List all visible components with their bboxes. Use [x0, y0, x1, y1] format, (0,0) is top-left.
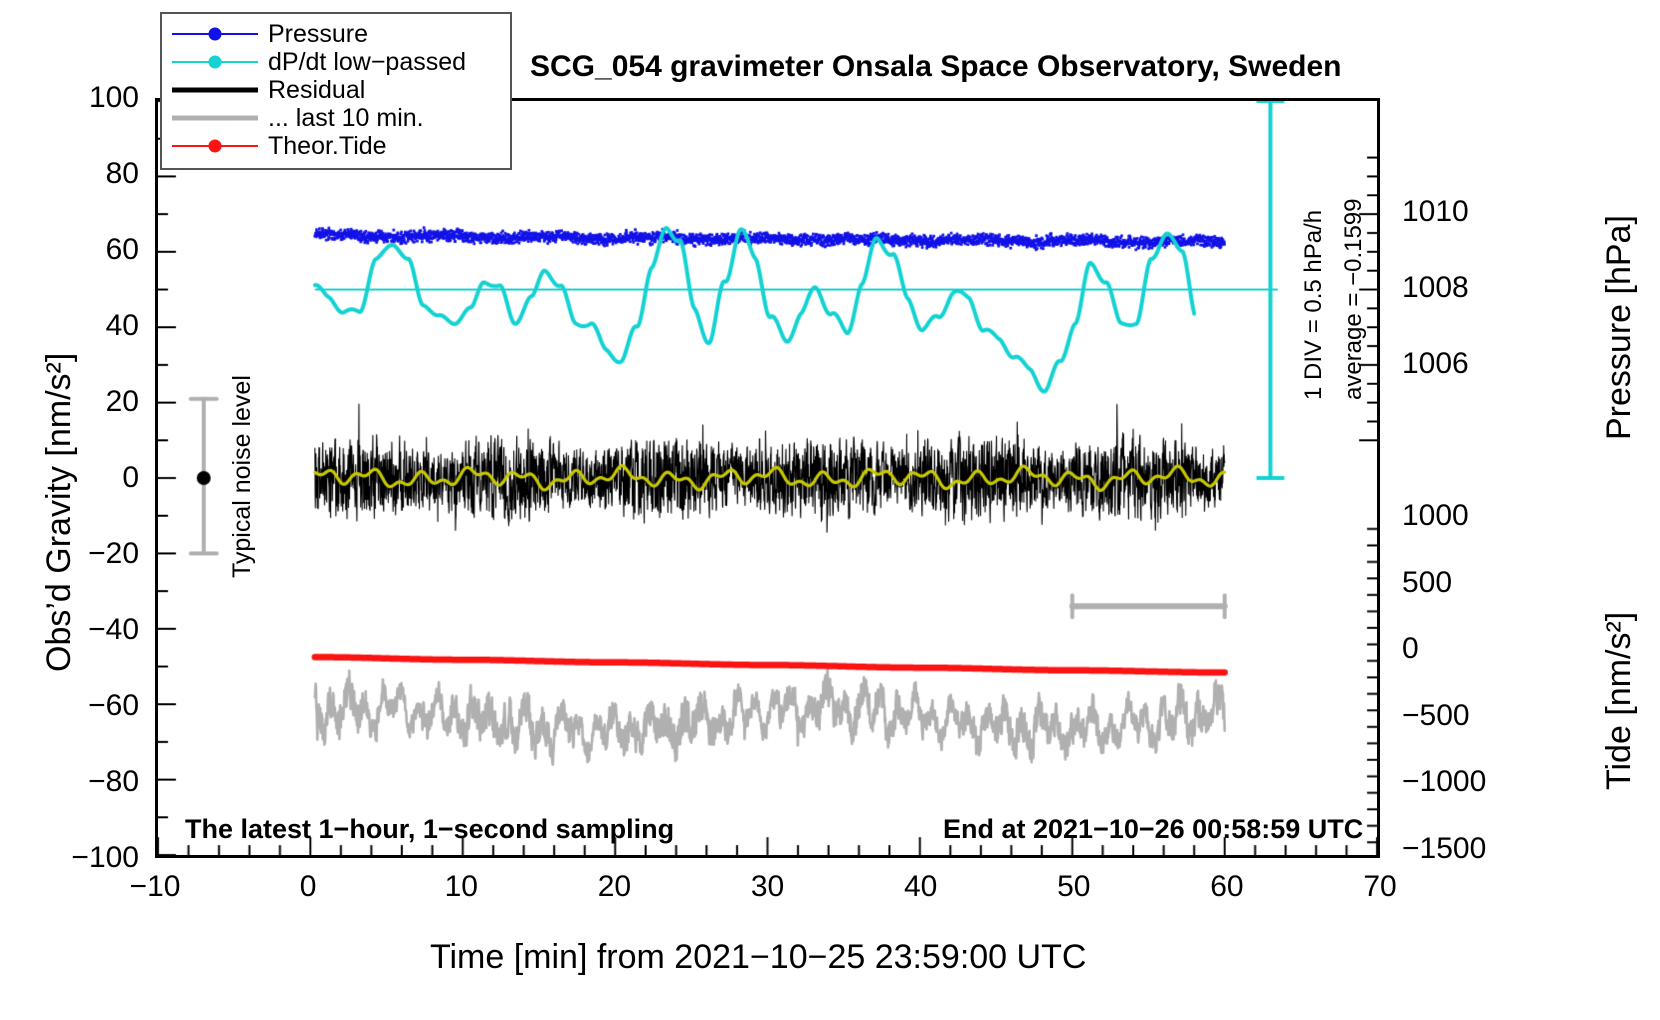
footer-right-note: End at 2021−10−26 00:58:59 UTC [943, 814, 1363, 845]
legend-label-residual: Residual [268, 76, 365, 105]
legend-label-theortide: Theor.Tide [268, 132, 387, 161]
xtick-0: −10 [130, 870, 181, 904]
ytick-left-7: −40 [19, 613, 139, 647]
dpdt-average-note: average = −0.1599 [1340, 198, 1368, 400]
xtick-3: 20 [598, 870, 631, 904]
legend-item-pressure[interactable]: Pressure [172, 20, 500, 48]
xtick-4: 30 [751, 870, 784, 904]
ytick-left-5: 0 [19, 461, 139, 495]
legend-swatch-last10 [172, 107, 258, 129]
ytick-tide-0: 1000 [1402, 499, 1469, 533]
ytick-left-6: −20 [19, 537, 139, 571]
legend-item-residual[interactable]: Residual [172, 76, 500, 104]
ytick-left-2: 60 [19, 233, 139, 267]
y-axis-right-pressure-title: Pressure [hPa] [1600, 215, 1639, 440]
typical-noise-level-label: Typical noise level [228, 375, 257, 578]
ytick-tide-1: 500 [1402, 566, 1452, 600]
y-axis-right-tide-title: Tide [nm/s²] [1600, 612, 1639, 790]
legend-swatch-pressure [172, 23, 258, 45]
xtick-5: 40 [904, 870, 937, 904]
legend-label-pressure: Pressure [268, 20, 368, 49]
ytick-left-8: −60 [19, 689, 139, 723]
ytick-tide-5: −1500 [1402, 832, 1486, 866]
xtick-6: 50 [1057, 870, 1090, 904]
ytick-left-3: 40 [19, 309, 139, 343]
legend-item-theortide[interactable]: Theor.Tide [172, 132, 500, 160]
ytick-left-1: 80 [19, 157, 139, 191]
ytick-tide-3: −500 [1402, 699, 1470, 733]
footer-left-note: The latest 1−hour, 1−second sampling [185, 814, 674, 845]
ytick-tide-2: 0 [1402, 632, 1419, 666]
page-title: SCG_054 gravimeter Onsala Space Observat… [530, 50, 1342, 84]
plot-canvas [158, 101, 1377, 855]
xtick-1: 0 [300, 870, 317, 904]
ytick-pressure-2: 1006 [1402, 347, 1469, 381]
legend-swatch-residual [172, 79, 258, 101]
ytick-left-4: 20 [19, 385, 139, 419]
dpdt-div-note: 1 DIV = 0.5 hPa/h [1300, 210, 1328, 400]
legend-swatch-dpdt [172, 51, 258, 73]
plot-area [155, 98, 1380, 858]
ytick-left-10: −100 [19, 841, 139, 875]
ytick-left-9: −80 [19, 765, 139, 799]
ytick-left-0: 100 [19, 81, 139, 115]
x-axis-title: Time [min] from 2021−10−25 23:59:00 UTC [430, 938, 1086, 977]
legend-label-dpdt: dP/dt low−passed [268, 48, 466, 77]
legend-label-last10: ... last 10 min. [268, 104, 424, 133]
xtick-2: 10 [445, 870, 478, 904]
ytick-pressure-0: 1010 [1402, 195, 1469, 229]
ytick-tide-4: −1000 [1402, 765, 1486, 799]
ytick-pressure-1: 1008 [1402, 271, 1469, 305]
legend-item-dpdt[interactable]: dP/dt low−passed [172, 48, 500, 76]
legend: Pressure dP/dt low−passed Residual ... l… [160, 12, 512, 170]
xtick-7: 60 [1210, 870, 1243, 904]
xtick-8: 70 [1363, 870, 1396, 904]
legend-item-last10[interactable]: ... last 10 min. [172, 104, 500, 132]
legend-swatch-theortide [172, 135, 258, 157]
